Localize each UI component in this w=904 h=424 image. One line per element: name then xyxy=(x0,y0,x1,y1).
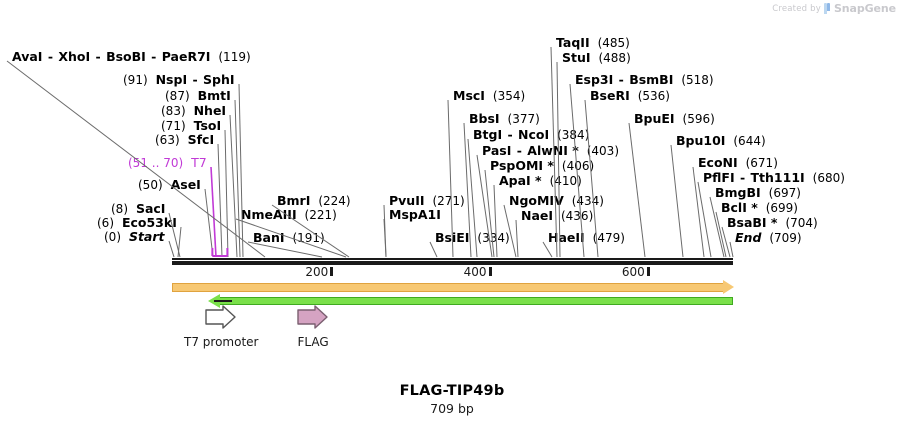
feature-arrow-t7-promoter[interactable] xyxy=(204,305,238,331)
ruler-tick-600 xyxy=(647,267,650,276)
page-title: FLAG-TIP49b xyxy=(0,383,904,399)
feature-legend: T7 promoterFLAG xyxy=(0,305,904,365)
feature-arrow-shape xyxy=(298,306,327,328)
ruler-label-600: 600 xyxy=(622,265,647,279)
ruler-tick-400 xyxy=(489,267,492,276)
feature-arrow-flag[interactable] xyxy=(296,305,330,331)
cds-track-arrow-stem xyxy=(214,300,232,302)
t7-feature-bracket xyxy=(0,0,904,262)
ruler-tick-200 xyxy=(330,267,333,276)
cds-track-bar xyxy=(219,297,733,305)
sequence-length: 709 bp xyxy=(0,401,904,416)
feature-arrow-shape xyxy=(206,306,235,328)
ruler-label-200: 200 xyxy=(305,265,330,279)
feature-label-flag: FLAG xyxy=(298,335,329,349)
bp-ruler: 200400600 xyxy=(0,265,904,283)
plasmid-map-canvas: Created by SnapGene (0) Start(6) Eco53kI… xyxy=(0,0,904,424)
orf-track-arrowhead xyxy=(723,280,734,294)
orf-track-bar xyxy=(172,283,725,292)
feature-label-t7-promoter: T7 promoter xyxy=(184,335,258,349)
ruler-label-400: 400 xyxy=(464,265,489,279)
